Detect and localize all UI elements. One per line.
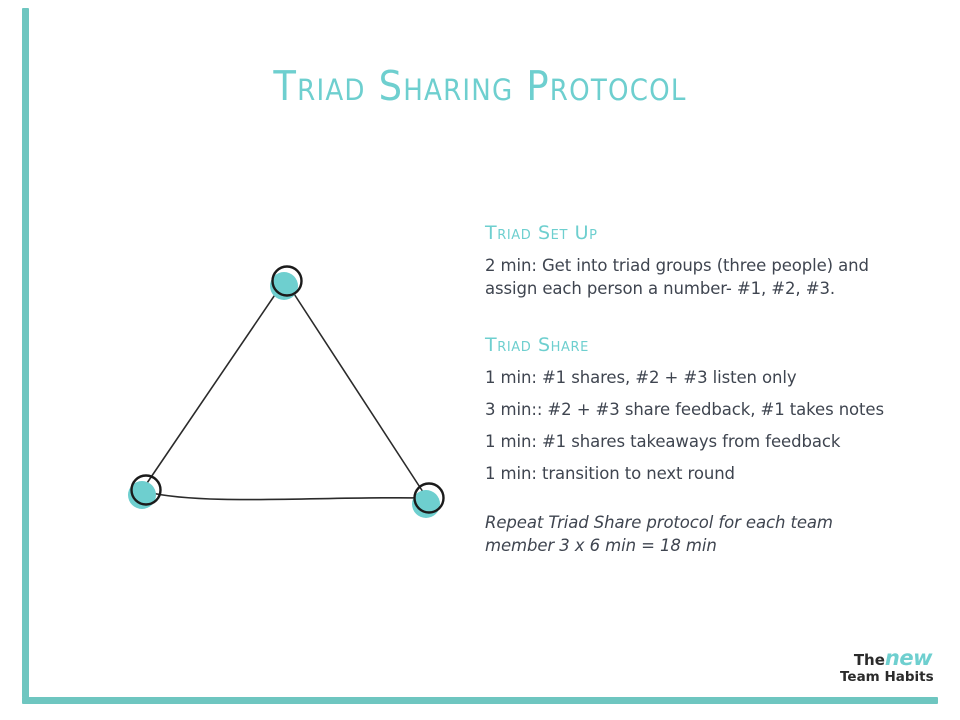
logo-word-the: The bbox=[854, 651, 885, 669]
node-bottom-right bbox=[412, 484, 444, 519]
logo-line-one: Thenew bbox=[840, 648, 932, 669]
section-footnote: Repeat Triad Share protocol for each tea… bbox=[485, 511, 885, 557]
section-triad-set-up: Triad Set Up 2 min: Get into triad group… bbox=[485, 222, 885, 300]
logo-word-new: new bbox=[885, 646, 932, 670]
section-triad-share: Triad Share 1 min: #1 shares, #2 + #3 li… bbox=[485, 334, 885, 557]
list-item: 1 min: #1 shares, #2 + #3 listen only bbox=[485, 366, 885, 389]
section-heading-setup: Triad Set Up bbox=[485, 222, 885, 244]
triangle-edges bbox=[145, 280, 425, 500]
brand-logo: Thenew Team Habits bbox=[840, 648, 932, 685]
page-title: Triad Sharing Protocol bbox=[0, 62, 960, 110]
slide: Triad Sharing Protocol bbox=[0, 0, 960, 720]
logo-line-two: Team Habits bbox=[840, 671, 932, 685]
list-item: 3 min:: #2 + #3 share feedback, #1 takes… bbox=[485, 398, 885, 421]
section-paragraph-setup: 2 min: Get into triad groups (three peop… bbox=[485, 254, 885, 300]
section-heading-share: Triad Share bbox=[485, 334, 885, 356]
node-top bbox=[270, 267, 302, 301]
node-bottom-left bbox=[128, 476, 161, 510]
list-item: 1 min: transition to next round bbox=[485, 462, 885, 485]
bottom-accent-bar bbox=[22, 697, 938, 704]
content-column: Triad Set Up 2 min: Get into triad group… bbox=[485, 222, 885, 557]
left-accent-bar bbox=[22, 8, 29, 698]
triad-diagram bbox=[95, 230, 465, 550]
list-item: 1 min: #1 shares takeaways from feedback bbox=[485, 430, 885, 453]
